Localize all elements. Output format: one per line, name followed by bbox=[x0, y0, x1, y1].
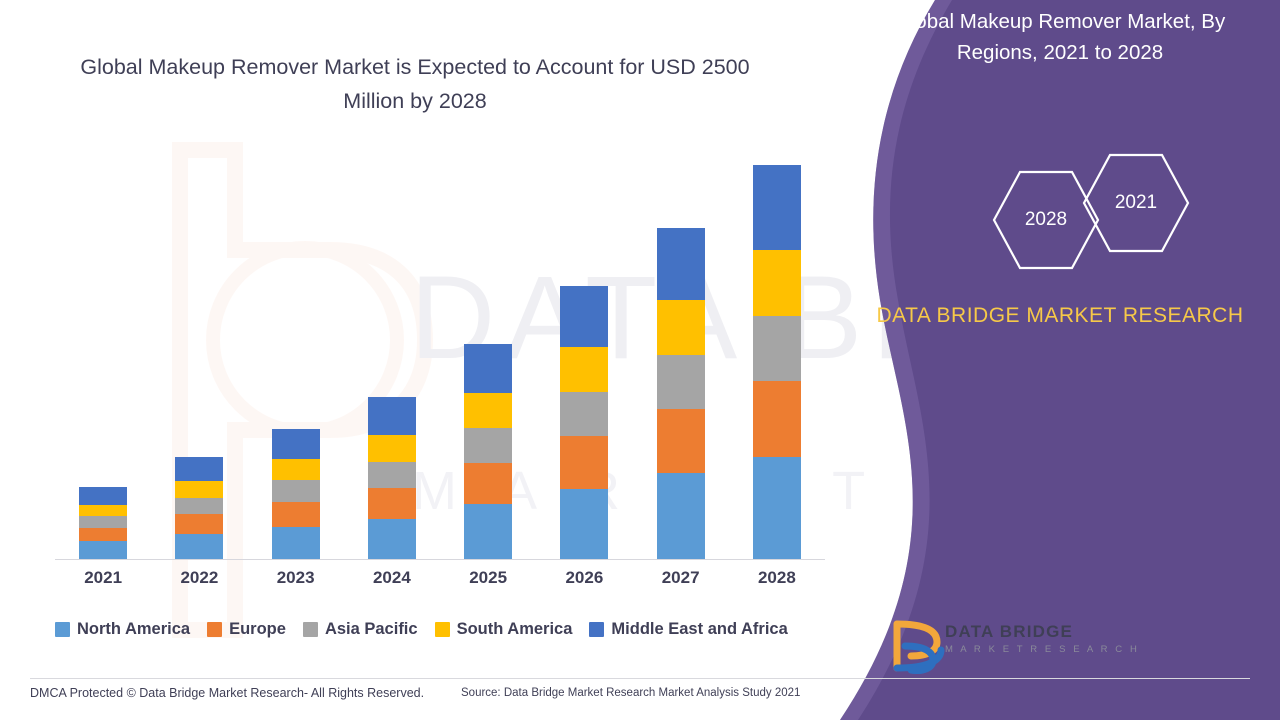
bar-group bbox=[560, 286, 608, 559]
legend-label: Asia Pacific bbox=[325, 620, 418, 639]
bar-group bbox=[79, 487, 127, 559]
x-axis-label: 2024 bbox=[344, 568, 440, 588]
x-axis-label: 2025 bbox=[440, 568, 536, 588]
bar-segment bbox=[657, 409, 705, 473]
bar-segment bbox=[368, 397, 416, 435]
bar-segment bbox=[464, 393, 512, 428]
bar-group bbox=[464, 344, 512, 559]
bar-group bbox=[753, 165, 801, 559]
panel-brand-text: DATA BRIDGE MARKET RESEARCH bbox=[870, 300, 1250, 332]
x-axis-labels: 20212022202320242025202620272028 bbox=[55, 568, 825, 594]
legend-item[interactable]: Europe bbox=[207, 620, 286, 639]
bar-segment bbox=[272, 502, 320, 527]
x-axis-label: 2026 bbox=[536, 568, 632, 588]
stacked-bar-chart bbox=[55, 150, 825, 560]
bar-segment bbox=[79, 541, 127, 559]
bar-segment bbox=[272, 480, 320, 501]
legend-swatch bbox=[435, 622, 450, 637]
bar-segment bbox=[368, 435, 416, 461]
legend-label: South America bbox=[457, 620, 573, 639]
bar-segment bbox=[464, 463, 512, 504]
bar-segment bbox=[560, 436, 608, 489]
panel-background bbox=[840, 0, 1280, 720]
bar-segment bbox=[272, 429, 320, 459]
x-axis-label: 2028 bbox=[729, 568, 825, 588]
bar-segment bbox=[753, 381, 801, 457]
bar-segment bbox=[657, 300, 705, 355]
logo-title: DATA BRIDGE bbox=[945, 622, 1073, 642]
bar-segment bbox=[79, 528, 127, 542]
bar-segment bbox=[175, 514, 223, 533]
footer-source: Source: Data Bridge Market Research Mark… bbox=[461, 687, 800, 699]
bar-segment bbox=[272, 527, 320, 559]
page-title: Global Makeup Remover Market is Expected… bbox=[60, 50, 770, 118]
bar-group bbox=[657, 228, 705, 559]
legend-item[interactable]: South America bbox=[435, 620, 573, 639]
x-axis-label: 2023 bbox=[248, 568, 344, 588]
footer-copyright: DMCA Protected © Data Bridge Market Rese… bbox=[30, 686, 424, 700]
bar-segment bbox=[175, 457, 223, 481]
footer-divider bbox=[30, 678, 1250, 679]
hexagon-graphic: 2028 2021 bbox=[960, 150, 1260, 290]
bar-segment bbox=[657, 355, 705, 410]
legend-swatch bbox=[55, 622, 70, 637]
x-axis-label: 2021 bbox=[55, 568, 151, 588]
bar-segment bbox=[272, 459, 320, 480]
bar-segment bbox=[79, 505, 127, 517]
bar-group bbox=[272, 429, 320, 559]
x-axis-label: 2022 bbox=[151, 568, 247, 588]
bar-group bbox=[175, 457, 223, 559]
right-panel: Global Makeup Remover Market, By Regions… bbox=[840, 0, 1280, 720]
bar-segment bbox=[657, 473, 705, 559]
legend-item[interactable]: Middle East and Africa bbox=[589, 620, 787, 639]
bar-segment bbox=[175, 534, 223, 559]
bar-segment bbox=[657, 228, 705, 300]
bar-segment bbox=[79, 516, 127, 528]
bar-segment bbox=[560, 392, 608, 437]
bar-segment bbox=[368, 519, 416, 559]
bar-segment bbox=[560, 347, 608, 392]
bar-segment bbox=[175, 498, 223, 515]
bar-segment bbox=[560, 286, 608, 346]
x-axis-line bbox=[55, 559, 825, 560]
logo-subtitle: M A R K E T R E S E A R C H bbox=[945, 644, 1139, 655]
bar-segment bbox=[753, 316, 801, 381]
panel-title: Global Makeup Remover Market, By Regions… bbox=[860, 6, 1260, 68]
bar-group bbox=[368, 397, 416, 559]
legend-swatch bbox=[589, 622, 604, 637]
legend-item[interactable]: North America bbox=[55, 620, 190, 639]
legend-label: Europe bbox=[229, 620, 286, 639]
legend-swatch bbox=[303, 622, 318, 637]
legend-item[interactable]: Asia Pacific bbox=[303, 620, 418, 639]
bar-segment bbox=[753, 165, 801, 251]
x-axis-label: 2027 bbox=[633, 568, 729, 588]
bar-segment bbox=[464, 504, 512, 560]
chart-legend: North AmericaEuropeAsia PacificSouth Ame… bbox=[55, 617, 825, 641]
bar-segment bbox=[753, 457, 801, 559]
hex-label-2021: 2021 bbox=[1084, 192, 1188, 214]
legend-swatch bbox=[207, 622, 222, 637]
bar-segment bbox=[175, 481, 223, 498]
bar-segment bbox=[464, 428, 512, 463]
legend-label: Middle East and Africa bbox=[611, 620, 787, 639]
legend-label: North America bbox=[77, 620, 190, 639]
bar-segment bbox=[560, 489, 608, 559]
bar-segment bbox=[368, 488, 416, 519]
bar-segment bbox=[753, 250, 801, 315]
bar-segment bbox=[79, 487, 127, 505]
bar-segment bbox=[464, 344, 512, 393]
hex-label-2028: 2028 bbox=[994, 209, 1098, 231]
bar-segment bbox=[368, 462, 416, 488]
